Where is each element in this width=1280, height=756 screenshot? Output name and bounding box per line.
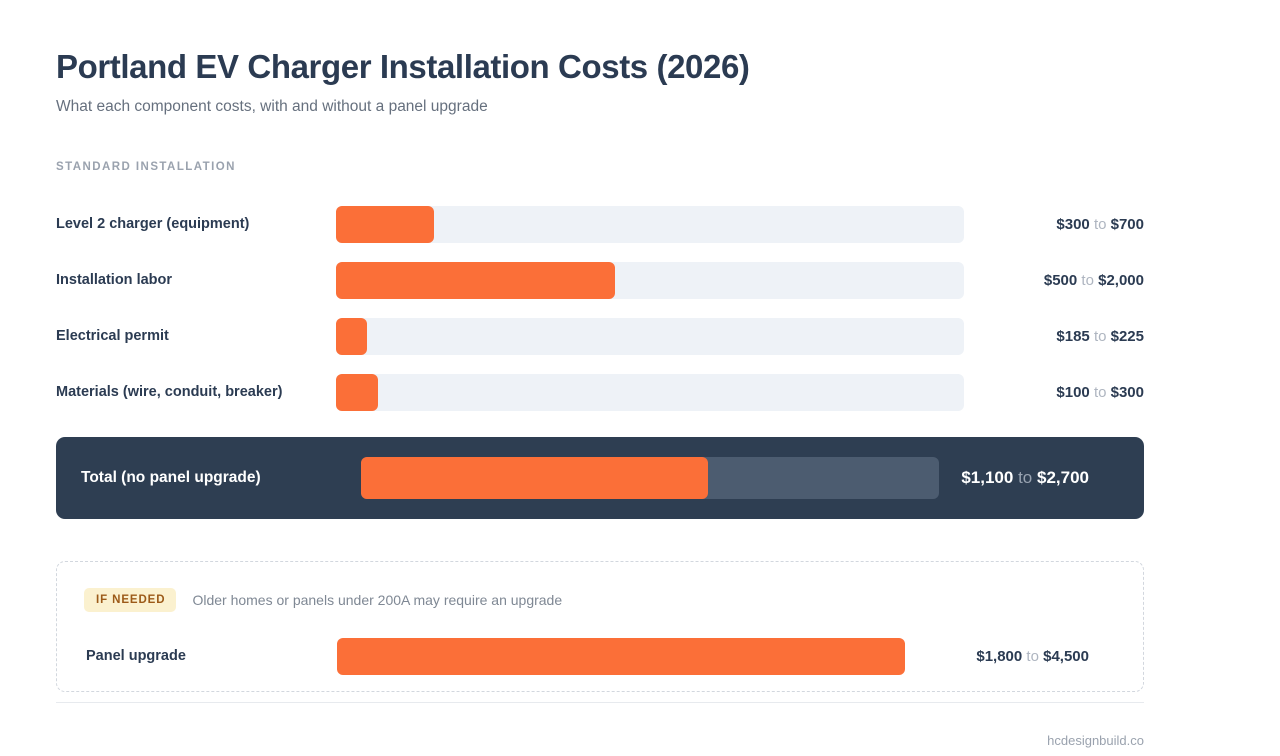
cost-low: $185 [1056, 328, 1089, 345]
cost-high: $225 [1111, 328, 1144, 345]
cost-row-label: Level 2 charger (equipment) [56, 214, 336, 234]
cost-row-track [336, 374, 964, 411]
footer-divider [56, 702, 1144, 703]
optional-note: Older homes or panels under 200A may req… [192, 592, 562, 608]
cost-row-value: $185 to $225 [964, 328, 1144, 345]
optional-header: IF NEEDED Older homes or panels under 20… [84, 588, 562, 612]
total-card: Total (no panel upgrade) $1,100 to $2,70… [56, 437, 1144, 519]
cost-low: $1,800 [976, 648, 1022, 665]
range-connector: to [1094, 216, 1107, 233]
standard-rows: Level 2 charger (equipment) $300 to $700… [56, 196, 1144, 420]
cost-low: $300 [1056, 216, 1089, 233]
cost-row-track [336, 206, 964, 243]
cost-high: $300 [1111, 384, 1144, 401]
cost-row-track [337, 638, 907, 675]
cost-row-label: Electrical permit [56, 326, 336, 346]
cost-high: $2,000 [1098, 272, 1144, 289]
cost-low: $500 [1044, 272, 1077, 289]
cost-row-label: Installation labor [56, 270, 336, 290]
total-track [361, 457, 939, 499]
total-fill [361, 457, 708, 499]
cost-row: Materials (wire, conduit, breaker) $100 … [56, 364, 1144, 420]
section-label-standard-installation: STANDARD INSTALLATION [56, 161, 236, 173]
total-label: Total (no panel upgrade) [56, 469, 361, 487]
cost-row-value: $500 to $2,000 [964, 272, 1144, 289]
cost-high: $4,500 [1043, 648, 1089, 665]
total-value: $1,100 to $2,700 [939, 468, 1144, 488]
footer-attribution: hcdesignbuild.co [1047, 733, 1144, 748]
page-title: Portland EV Charger Installation Costs (… [56, 46, 1156, 88]
cost-high: $700 [1111, 216, 1144, 233]
range-connector: to [1094, 384, 1107, 401]
range-connector: to [1081, 272, 1094, 289]
status-badge: IF NEEDED [84, 588, 176, 612]
cost-row-value: $1,800 to $4,500 [907, 648, 1143, 665]
infographic-page: Portland EV Charger Installation Costs (… [0, 0, 1280, 756]
optional-upgrade-box: IF NEEDED Older homes or panels under 20… [56, 561, 1144, 692]
cost-row-fill [336, 374, 378, 411]
cost-row: Panel upgrade $1,800 to $4,500 [57, 628, 1143, 684]
cost-row: Installation labor $500 to $2,000 [56, 252, 1144, 308]
cost-row-label: Panel upgrade [57, 648, 337, 664]
cost-row-fill [336, 318, 367, 355]
total-high: $2,700 [1037, 468, 1089, 487]
cost-row: Electrical permit $185 to $225 [56, 308, 1144, 364]
page-subtitle: What each component costs, with and with… [56, 96, 1156, 118]
cost-row-fill [337, 638, 905, 675]
header: Portland EV Charger Installation Costs (… [56, 46, 1156, 118]
range-connector: to [1018, 468, 1032, 487]
cost-row-track [336, 318, 964, 355]
cost-row-label: Materials (wire, conduit, breaker) [56, 382, 336, 402]
cost-low: $100 [1056, 384, 1089, 401]
cost-row: Level 2 charger (equipment) $300 to $700 [56, 196, 1144, 252]
range-connector: to [1094, 328, 1107, 345]
range-connector: to [1026, 648, 1039, 665]
cost-row-value: $100 to $300 [964, 384, 1144, 401]
cost-row-value: $300 to $700 [964, 216, 1144, 233]
cost-row-fill [336, 206, 434, 243]
cost-row-track [336, 262, 964, 299]
total-low: $1,100 [961, 468, 1013, 487]
cost-row-fill [336, 262, 615, 299]
